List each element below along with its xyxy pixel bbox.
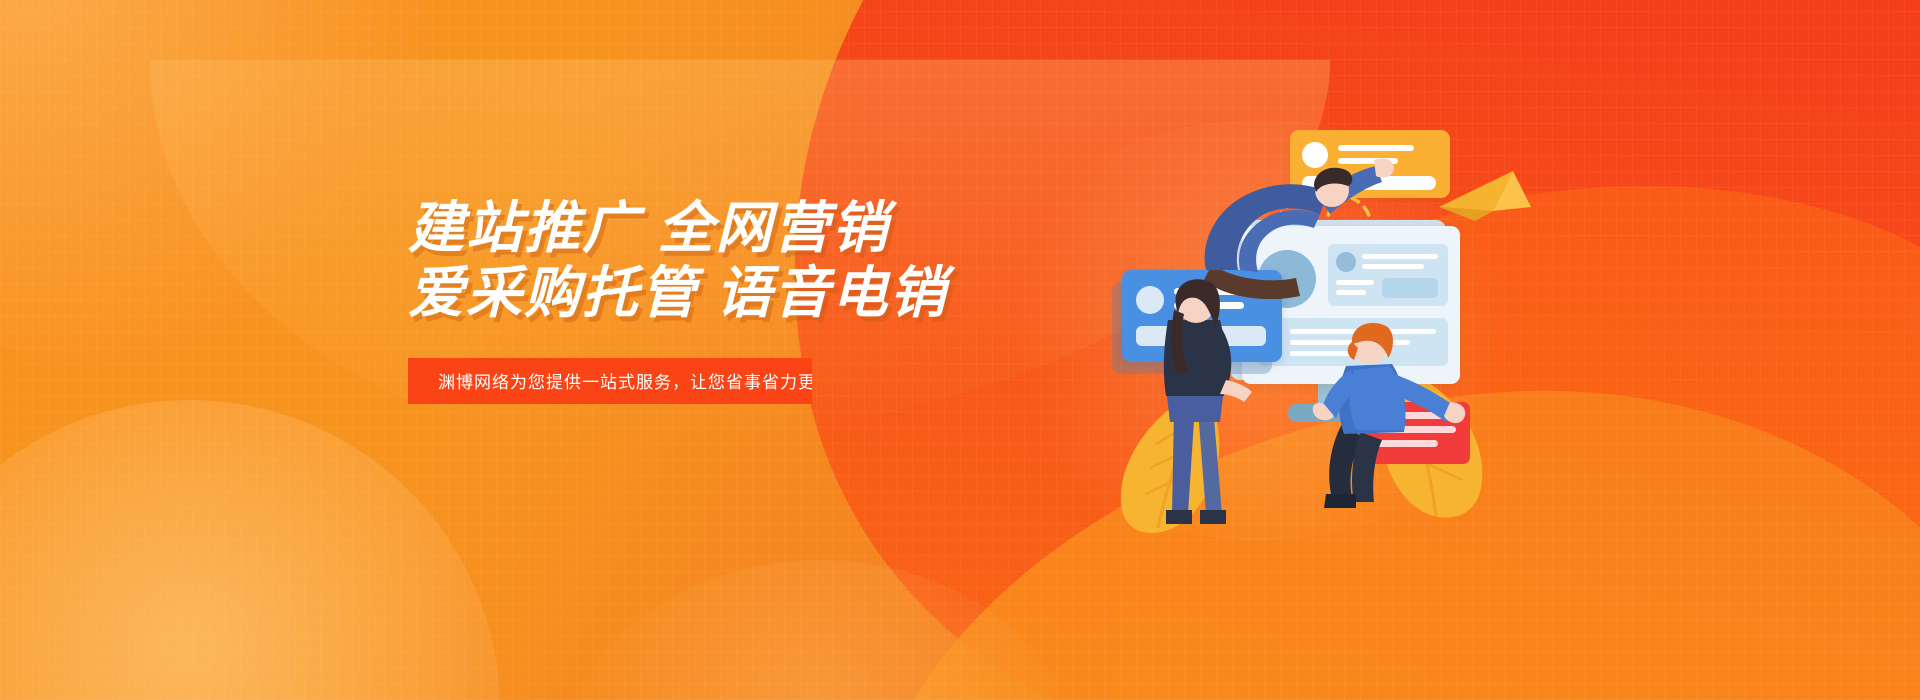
- text-line: [1338, 145, 1414, 151]
- headline-block: 建站推广 全网营销 爱采购托管 语音电销 渊博网络为您提供一站式服务，让您省事省…: [408, 196, 1028, 404]
- tagline-ribbon: 渊博网络为您提供一站式服务，让您省事省力更省心: [408, 358, 812, 404]
- hero-illustration: [1100, 120, 1520, 540]
- promo-banner: 建站推广 全网营销 爱采购托管 语音电销 渊博网络为您提供一站式服务，让您省事省…: [0, 0, 1920, 700]
- woman-standing: [1136, 270, 1266, 540]
- tagline-text: 渊博网络为您提供一站式服务，让您省事省力更省心: [408, 368, 852, 393]
- paper-plane-icon: [1435, 155, 1545, 225]
- man-sitting: [1312, 312, 1492, 532]
- headline-line-2: 爱采购托管 语音电销: [408, 261, 1028, 326]
- headline-line-1: 建站推广 全网营销: [408, 196, 1028, 261]
- decorative-circle-bottom-left: [0, 400, 500, 700]
